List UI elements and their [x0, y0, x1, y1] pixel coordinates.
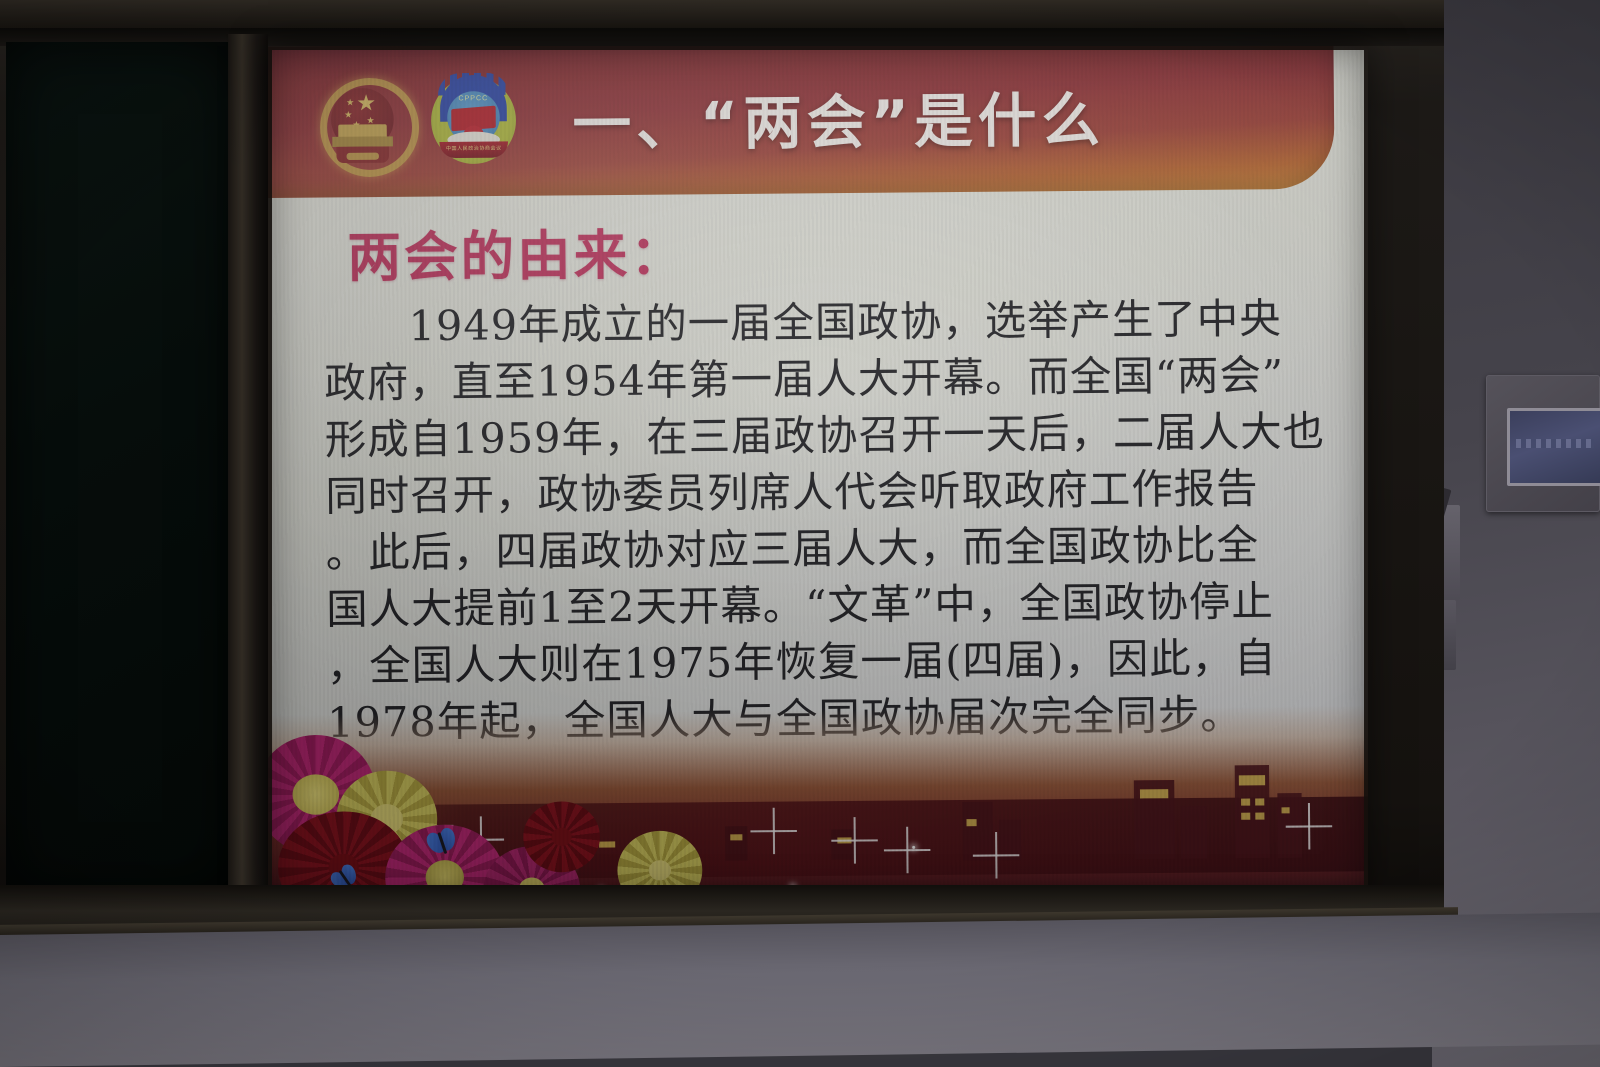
classroom-scene: ★ ★ ★ ★ ★: [0, 0, 1600, 1067]
building-window: [1241, 813, 1250, 820]
body-line: 1949年成立的一届全国政协，选举产生了中央: [324, 290, 1314, 355]
blackboard-frame: ★ ★ ★ ★ ★: [0, 0, 1444, 952]
chalkboard-panel: [6, 42, 234, 894]
building-window: [1255, 798, 1264, 805]
building: [725, 826, 748, 861]
building-window: [599, 841, 615, 847]
slide-title: 一、“两会”是什么: [572, 73, 1105, 162]
emblem-group: ★ ★ ★ ★ ★: [316, 69, 521, 174]
cppcc-emblem-banner-text: 中国人民政治协商会议: [439, 144, 508, 152]
body-line: 形成自1959年，在三届政协召开一天后，二届人大也: [325, 403, 1315, 468]
building-window: [1140, 789, 1168, 798]
light-sparkle: [884, 827, 931, 874]
national-emblem-icon: ★ ★ ★ ★ ★: [316, 70, 410, 174]
body-line: 。此后，四届政协对应三届人大，而全国政协比全: [326, 516, 1316, 581]
cppcc-emblem-icon: CPPCC 中国人民政治协商会议: [427, 69, 521, 173]
slide-body-text: 1949年成立的一届全国政协，选举产生了中央 政府，直至1954年第一届人大开幕…: [324, 290, 1318, 751]
powerpoint-slide: ★ ★ ★ ★ ★: [268, 46, 1368, 898]
body-line: 国人大提前1至2天开幕。“文革”中，全国政协停止: [326, 573, 1316, 638]
building-window: [1239, 775, 1265, 785]
building-window: [1255, 813, 1264, 820]
wall-control-panel[interactable]: [1486, 375, 1600, 512]
building: [1180, 806, 1207, 859]
light-sparkle: [831, 817, 878, 864]
panel-window: [1507, 408, 1600, 486]
slide-footer-decoration: [268, 706, 1368, 898]
flower: [523, 801, 600, 872]
lower-wall: [0, 913, 1600, 1067]
building-window: [730, 834, 742, 840]
body-line: 同时召开，政协委员列席人代会听取政府工作报告: [325, 460, 1315, 525]
light-sparkle: [1286, 803, 1333, 850]
slide-header-band: ★ ★ ★ ★ ★: [268, 46, 1335, 198]
body-line: 政府，直至1954年第一届人大开幕。而全国“两会”: [324, 346, 1314, 411]
light-sparkle: [973, 832, 1020, 879]
building-window: [966, 819, 976, 826]
panel-switch-row: [1516, 439, 1594, 448]
projection-screen: ★ ★ ★ ★ ★: [268, 46, 1368, 898]
board-slide-track[interactable]: [228, 34, 268, 900]
body-line: ，全国人大则在1975年恢复一届(四届)，因此，自: [327, 629, 1317, 694]
light-sparkle: [750, 808, 797, 855]
building-window: [1241, 799, 1250, 806]
light-dot: [912, 846, 915, 849]
slide-subtitle: 两会的由来：: [347, 213, 687, 293]
cppcc-emblem-inner-text: CPPCC: [451, 95, 496, 102]
